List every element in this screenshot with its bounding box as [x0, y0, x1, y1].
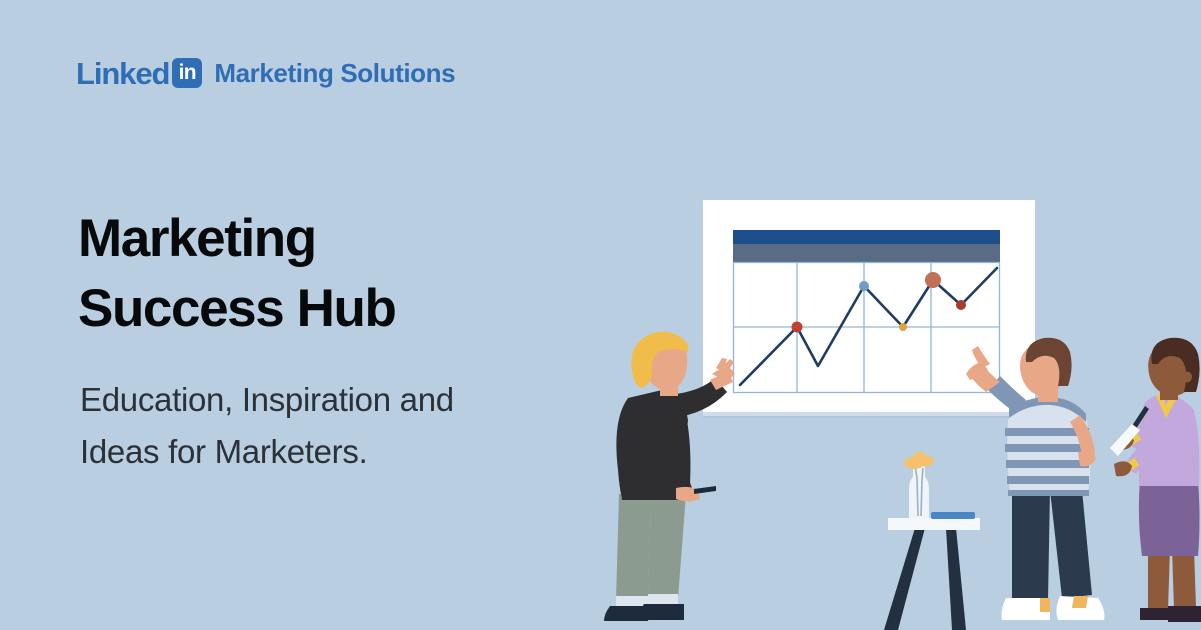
- presenter-leg-back: [616, 494, 651, 601]
- striped-man-leg-back: [1012, 490, 1050, 600]
- chart-subheader-bar: [733, 244, 1000, 262]
- linkedin-wordmark: Linked: [76, 58, 169, 89]
- chart-header-bar: [733, 230, 1000, 244]
- striped-man-shoe-back-accent: [1040, 598, 1050, 612]
- note-taker-shoe-front: [1168, 606, 1201, 622]
- page-title: Marketing Success Hub: [78, 204, 395, 345]
- note-taker-leg-back: [1148, 548, 1170, 610]
- table-top: [888, 518, 980, 530]
- blue-book: [931, 512, 975, 519]
- chart-marker-4: [925, 272, 941, 288]
- whiteboard-shadow: [703, 412, 1035, 418]
- note-taker-leg-front: [1172, 548, 1196, 608]
- presenter-shoe-front: [638, 604, 684, 620]
- chart-marker-3: [899, 323, 907, 331]
- chart-marker-2: [859, 281, 869, 291]
- marketing-solutions-label: Marketing Solutions: [214, 58, 455, 89]
- marketing-success-hub-banner: Linked in Marketing Solutions Marketing …: [0, 0, 1201, 630]
- chart-marker-1: [792, 322, 803, 333]
- linkedin-in-badge-icon: in: [172, 58, 202, 88]
- note-taker-skirt: [1139, 480, 1200, 556]
- chart-marker-5: [956, 300, 966, 310]
- chart-panel: [733, 230, 1000, 393]
- striped-man-shoe-front-accent: [1072, 596, 1088, 608]
- linkedin-marketing-solutions-logo[interactable]: Linked in Marketing Solutions: [76, 56, 455, 90]
- page-subtitle: Education, Inspiration and Ideas for Mar…: [80, 374, 454, 478]
